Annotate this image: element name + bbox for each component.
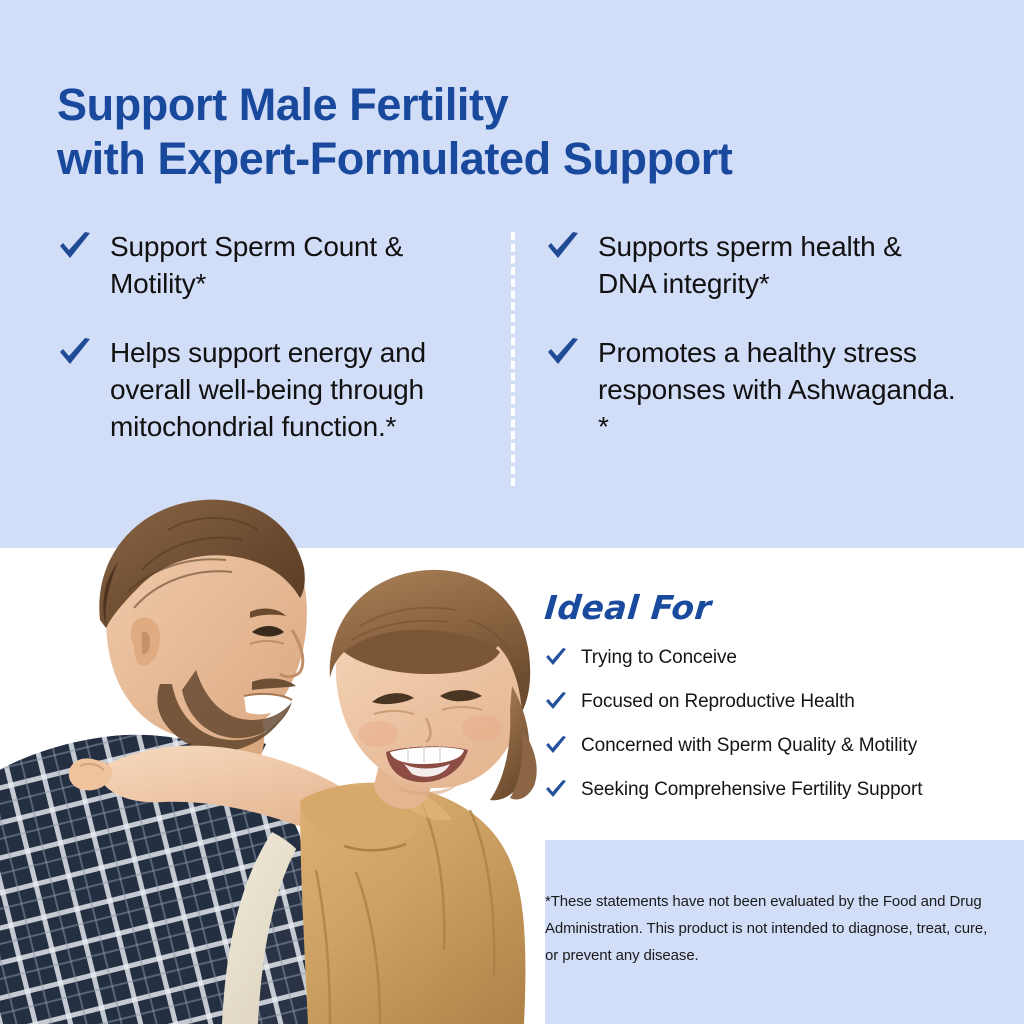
list-item-label: Concerned with Sperm Quality & Motility: [581, 735, 917, 756]
feature-item: Helps support energy and overall well-be…: [55, 334, 475, 445]
list-item: Trying to Conceive: [543, 646, 1003, 670]
list-item: Seeking Comprehensive Fertility Support: [543, 778, 1003, 802]
page-title: Support Male Fertility with Expert-Formu…: [57, 78, 937, 186]
list-item-label: Seeking Comprehensive Fertility Support: [581, 779, 922, 800]
promo-graphic: Support Male Fertility with Expert-Formu…: [0, 0, 1024, 1024]
ideal-for-section: Ideal For Trying to Conceive Focused on …: [543, 588, 1003, 822]
feature-text: Support Sperm Count & Motility*: [110, 231, 403, 299]
feature-item: Supports sperm health & DNA integrity*: [543, 228, 963, 302]
headline-line-1: Support Male Fertility: [57, 79, 508, 130]
feature-benefits: Support Sperm Count & Motility* Helps su…: [55, 228, 985, 490]
check-icon: [546, 338, 580, 368]
check-icon: [58, 232, 92, 262]
feature-item: Promotes a healthy stress responses with…: [543, 334, 963, 445]
check-icon: [545, 648, 567, 668]
feature-text: Supports sperm health & DNA integrity*: [598, 231, 902, 299]
check-icon: [545, 736, 567, 756]
feature-column-left: Support Sperm Count & Motility* Helps su…: [55, 228, 475, 477]
list-item-label: Trying to Conceive: [581, 647, 737, 668]
ideal-for-list: Trying to Conceive Focused on Reproducti…: [543, 646, 1003, 802]
ideal-for-title: Ideal For: [543, 588, 1006, 628]
feature-text: Helps support energy and overall well-be…: [110, 337, 426, 442]
list-item: Focused on Reproductive Health: [543, 690, 1003, 714]
list-item-label: Focused on Reproductive Health: [581, 691, 855, 712]
column-divider: [511, 232, 515, 486]
check-icon: [546, 232, 580, 262]
check-icon: [58, 338, 92, 368]
fda-disclaimer: *These statements have not been evaluate…: [545, 888, 1000, 969]
headline-line-2: with Expert-Formulated Support: [57, 132, 937, 186]
feature-item: Support Sperm Count & Motility*: [55, 228, 475, 302]
list-item: Concerned with Sperm Quality & Motility: [543, 734, 1003, 758]
check-icon: [545, 692, 567, 712]
father-and-child-photo: [0, 470, 545, 1024]
check-icon: [545, 780, 567, 800]
feature-text: Promotes a healthy stress responses with…: [598, 337, 955, 442]
feature-column-right: Supports sperm health & DNA integrity* P…: [543, 228, 963, 477]
